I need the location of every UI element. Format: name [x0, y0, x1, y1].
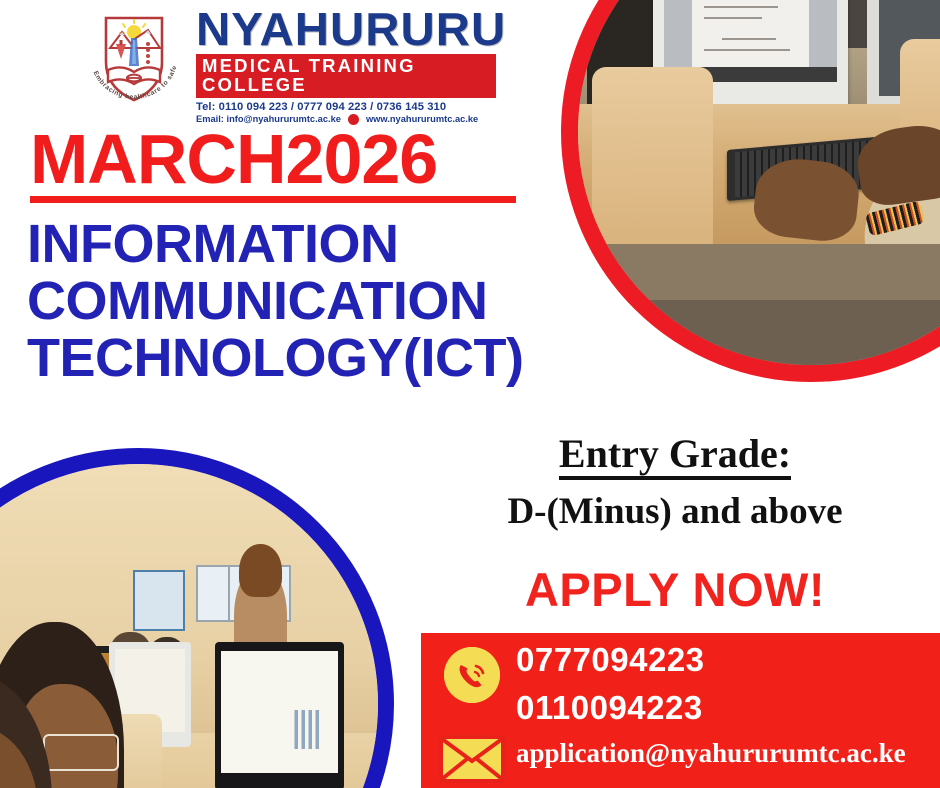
college-subtitle: MEDICAL TRAINING COLLEGE: [196, 54, 496, 98]
monitor-near: [215, 642, 345, 788]
poster-canvas: Embracing healthcare to safe hands NYAHU…: [0, 0, 940, 788]
college-crest-icon: Embracing healthcare to safe hands: [78, 4, 190, 116]
intake-underline: [30, 196, 516, 203]
college-logo: Embracing healthcare to safe hands NYAHU…: [78, 2, 498, 118]
course-title-line-2: COMMUNICATION: [27, 273, 627, 330]
window-left: [133, 570, 185, 632]
document-on-screen: [692, 0, 809, 69]
college-telephone: Tel: 0110 094 223 / 0777 094 223 / 0736 …: [196, 101, 496, 113]
entry-grade-value: D-(Minus) and above: [430, 492, 920, 533]
phone-number-2[interactable]: 0110094223: [516, 689, 703, 727]
computer-lab-scene-top: [578, 0, 940, 365]
course-title-line-1: INFORMATION: [27, 216, 627, 273]
course-title-line-3: TECHNOLOGY(ICT): [27, 330, 627, 387]
envelope-icon: [439, 735, 505, 783]
intake-heading: MARCH2026: [30, 124, 437, 194]
phone-number-1[interactable]: 0777094223: [516, 641, 705, 679]
entry-requirement-block: Entry Grade: D-(Minus) and above: [430, 432, 920, 533]
eyeglasses-icon: [43, 734, 119, 771]
logo-text-block: NYAHURURU MEDICAL TRAINING COLLEGE Tel: …: [196, 6, 496, 125]
phone-icon: [444, 647, 500, 703]
entry-grade-label: Entry Grade:: [559, 432, 791, 480]
course-title: INFORMATION COMMUNICATION TECHNOLOGY(ICT…: [27, 216, 627, 388]
spreadsheet-chart: [290, 710, 334, 749]
photo-two-students: [0, 448, 394, 788]
contact-footer: 0777094223 0110094223 application@nyahur…: [421, 633, 940, 788]
college-name: NYAHURURU: [196, 6, 505, 52]
application-email[interactable]: application@nyahururumtc.ac.ke: [516, 738, 906, 769]
apply-now-cta[interactable]: APPLY NOW!: [430, 562, 920, 617]
lab-floor-shadow: [578, 300, 940, 365]
